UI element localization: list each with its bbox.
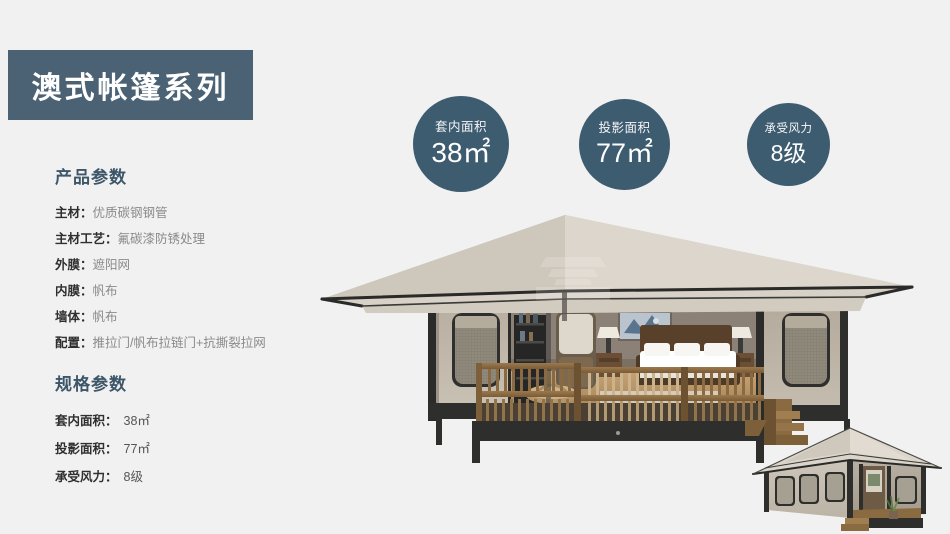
stat-badge-projected-area: 投影面积 77㎡	[579, 99, 670, 190]
title-banner: 澳式帐篷系列	[8, 50, 253, 120]
stat-badge-label: 承受风力	[765, 124, 813, 136]
inset-tent-illustration	[745, 418, 950, 534]
spec-label: 墙体：	[55, 310, 93, 324]
page-title: 澳式帐篷系列	[32, 63, 230, 107]
spec-value: 8级	[118, 470, 143, 484]
inset-wood-fragment	[745, 420, 767, 436]
spec-value: 帆布	[93, 310, 118, 324]
spec-value: 优质碳钢钢管	[93, 206, 168, 220]
spec-label: 内膜：	[55, 284, 93, 298]
stat-badge-label: 套内面积	[435, 121, 487, 134]
slide-canvas: 澳式帐篷系列 产品参数 主材：优质碳钢钢管 主材工艺：氟碳漆防锈处理 外膜：遮阳…	[0, 0, 950, 534]
stat-badge-wind-resistance: 承受风力 8级	[747, 103, 830, 186]
spec-label: 主材：	[55, 206, 93, 220]
stat-badge-value: 77㎡	[596, 140, 653, 167]
spec-label: 外膜：	[55, 258, 93, 272]
stat-badge-value: 8级	[771, 142, 807, 165]
tent-canopy-roof	[322, 215, 912, 321]
spec-row: 承受风力：8级	[55, 463, 355, 491]
spec-value: 遮阳网	[93, 258, 131, 272]
stat-badge-label: 投影面积	[598, 122, 650, 135]
tent-window-right	[782, 313, 830, 387]
spec-label: 套内面积：	[55, 414, 118, 428]
spec-label: 配置：	[55, 336, 93, 350]
spec-value: 帆布	[93, 284, 118, 298]
spec-value: 38㎡	[118, 414, 150, 428]
product-parameters-heading: 产品参数	[55, 163, 355, 188]
spec-label: 主材工艺：	[55, 232, 118, 246]
spec-value: 推拉门/帆布拉链门+抗撕裂拉网	[93, 336, 266, 350]
spec-label: 投影面积：	[55, 442, 118, 456]
spec-value: 氟碳漆防锈处理	[118, 232, 206, 246]
stat-badge-interior-area: 套内面积 38㎡	[413, 96, 509, 192]
spec-label: 承受风力：	[55, 470, 118, 484]
stat-badge-value: 38㎡	[431, 139, 490, 167]
spec-value: 77㎡	[118, 442, 150, 456]
